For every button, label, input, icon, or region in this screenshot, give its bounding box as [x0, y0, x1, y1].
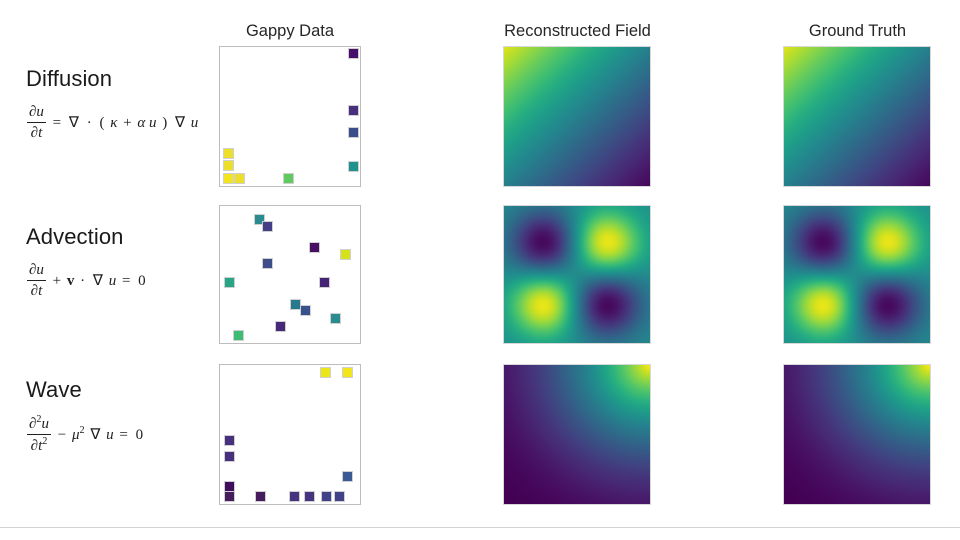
- field-canvas: [504, 365, 650, 504]
- data-point-marker: [225, 482, 234, 491]
- data-point-marker: [349, 128, 358, 137]
- fraction-du-dt: ∂u ∂t: [27, 103, 46, 143]
- equation-diffusion: ∂u ∂t = ∇ · ( κ + α u ) ∇ u: [26, 104, 198, 144]
- data-point-marker: [349, 106, 358, 115]
- data-point-marker: [349, 162, 358, 171]
- column-header-ground-truth: Ground Truth: [779, 22, 936, 41]
- field-canvas: [784, 47, 930, 186]
- data-point-marker: [225, 436, 234, 445]
- footer-divider: [0, 527, 960, 528]
- data-point-marker: [305, 492, 314, 501]
- gappy-data-panel-diffusion: [219, 46, 361, 187]
- reconstructed-field-panel-wave: [503, 364, 651, 505]
- equation-advection: ∂u ∂t + v · ∇ u = 0: [26, 262, 148, 302]
- data-point-marker: [349, 49, 358, 58]
- ground-truth-panel-diffusion: [783, 46, 931, 187]
- data-point-marker: [284, 174, 293, 183]
- field-canvas: [504, 47, 650, 186]
- gappy-data-panel-wave: [219, 364, 361, 505]
- ground-truth-panel-advection: [783, 205, 931, 344]
- field-canvas: [784, 365, 930, 504]
- data-point-marker: [322, 492, 331, 501]
- column-header-reconstructed-field: Reconstructed Field: [499, 22, 656, 41]
- data-point-marker: [343, 472, 352, 481]
- data-point-marker: [331, 314, 340, 323]
- data-point-marker: [234, 331, 243, 340]
- fraction-d2u-dt2: ∂2u ∂t2: [27, 414, 51, 456]
- pde-reconstruction-figure: Gappy Data Reconstructed Field Ground Tr…: [0, 0, 960, 540]
- data-point-marker: [343, 368, 352, 377]
- data-point-marker: [341, 250, 350, 259]
- row-label-diffusion: Diffusion: [26, 66, 112, 92]
- data-point-marker: [310, 243, 319, 252]
- column-header-gappy-data: Gappy Data: [215, 22, 365, 41]
- row-label-wave: Wave: [26, 377, 82, 403]
- data-point-marker: [335, 492, 344, 501]
- data-point-marker: [263, 259, 272, 268]
- data-point-marker: [225, 492, 234, 501]
- field-canvas: [784, 206, 930, 343]
- data-point-marker: [235, 174, 244, 183]
- reconstructed-field-panel-diffusion: [503, 46, 651, 187]
- data-point-marker: [225, 452, 234, 461]
- reconstructed-field-panel-advection: [503, 205, 651, 344]
- data-point-marker: [276, 322, 285, 331]
- field-canvas: [504, 206, 650, 343]
- data-point-marker: [225, 278, 234, 287]
- data-point-marker: [321, 368, 330, 377]
- data-point-marker: [224, 174, 233, 183]
- data-point-marker: [320, 278, 329, 287]
- equation-wave: ∂2u ∂t2 − μ2 ∇ u = 0: [26, 415, 145, 457]
- ground-truth-panel-wave: [783, 364, 931, 505]
- fraction-du-dt: ∂u ∂t: [27, 261, 46, 301]
- data-point-marker: [301, 306, 310, 315]
- data-point-marker: [290, 492, 299, 501]
- data-point-marker: [263, 222, 272, 231]
- gappy-data-panel-advection: [219, 205, 361, 344]
- data-point-marker: [224, 149, 233, 158]
- data-point-marker: [291, 300, 300, 309]
- data-point-marker: [256, 492, 265, 501]
- data-point-marker: [224, 161, 233, 170]
- row-label-advection: Advection: [26, 224, 124, 250]
